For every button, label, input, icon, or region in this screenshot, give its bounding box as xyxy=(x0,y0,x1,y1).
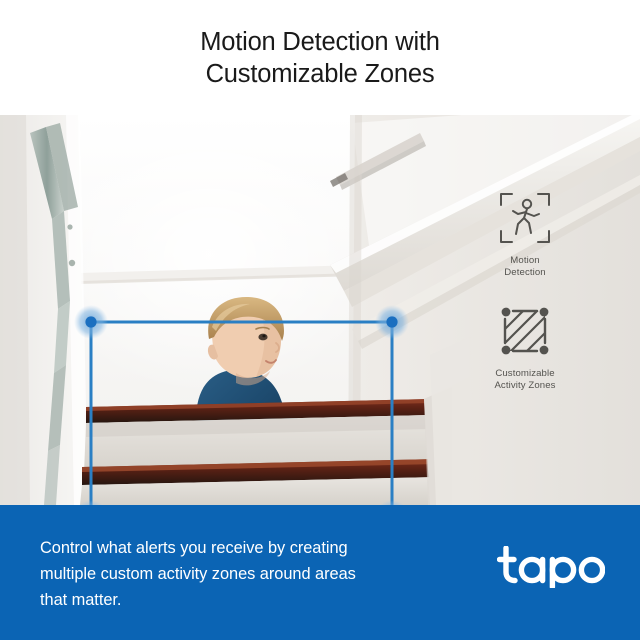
customizable-activity-zones-icon xyxy=(497,303,553,359)
header: Motion Detection with Customizable Zones xyxy=(0,0,640,115)
feature-motion-detection-label: Motion Detection xyxy=(504,255,545,280)
banner-description: Control what alerts you receive by creat… xyxy=(40,535,440,613)
feature-label-line-1: Motion xyxy=(510,255,539,266)
feature-list: Motion Detection xyxy=(470,190,580,420)
feature-label-line-1: Customizable xyxy=(495,368,554,379)
promo-card: Motion Detection with Customizable Zones xyxy=(0,0,640,640)
banner-text-line-2: multiple custom activity zones around ar… xyxy=(40,565,356,583)
feature-label-line-2: Detection xyxy=(504,267,545,278)
page-title-line-2: Customizable Zones xyxy=(206,58,435,90)
feature-motion-detection: Motion Detection xyxy=(470,190,580,280)
feature-customizable-zones-label: Customizable Activity Zones xyxy=(494,368,555,393)
banner-text-line-1: Control what alerts you receive by creat… xyxy=(40,539,348,557)
feature-customizable-zones: Customizable Activity Zones xyxy=(470,303,580,393)
page-title-line-1: Motion Detection with xyxy=(200,26,440,58)
banner-text-line-3: that matter. xyxy=(40,591,121,609)
tapo-logo: tapo xyxy=(497,546,605,588)
feature-label-line-2: Activity Zones xyxy=(494,380,555,391)
motion-detection-icon xyxy=(497,190,553,246)
